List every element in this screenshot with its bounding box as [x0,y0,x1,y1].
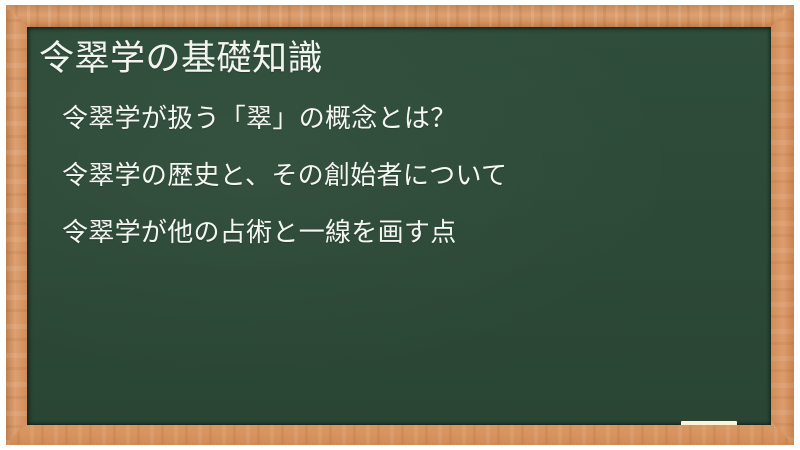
slide-title: 令翠学の基礎知識 [39,37,323,82]
bullet-item-3: 令翠学が他の占術と一線を画す点 [62,219,752,248]
chalkboard-wooden-frame: 令翠学の基礎知識 令翠学が扱う「翠」の概念とは？ 令翠学の歴史と、その創始者につ… [6,5,794,445]
frame-plank-right [770,5,794,445]
chalkboard-slide: 令翠学の基礎知識 令翠学が扱う「翠」の概念とは？ 令翠学の歴史と、その創始者につ… [0,0,800,450]
slide-bullet-list: 令翠学が扱う「翠」の概念とは？ 令翠学の歴史と、その創始者について 令翠学が他の… [62,105,752,248]
frame-plank-top [6,5,794,27]
chalkboard-surface: 令翠学の基礎知識 令翠学が扱う「翠」の概念とは？ 令翠学の歴史と、その創始者につ… [27,27,771,425]
frame-plank-left [6,5,28,445]
bullet-item-2: 令翠学の歴史と、その創始者について [62,162,752,191]
bullet-item-1: 令翠学が扱う「翠」の概念とは？ [62,105,752,134]
chalk-stick-icon [681,421,737,425]
